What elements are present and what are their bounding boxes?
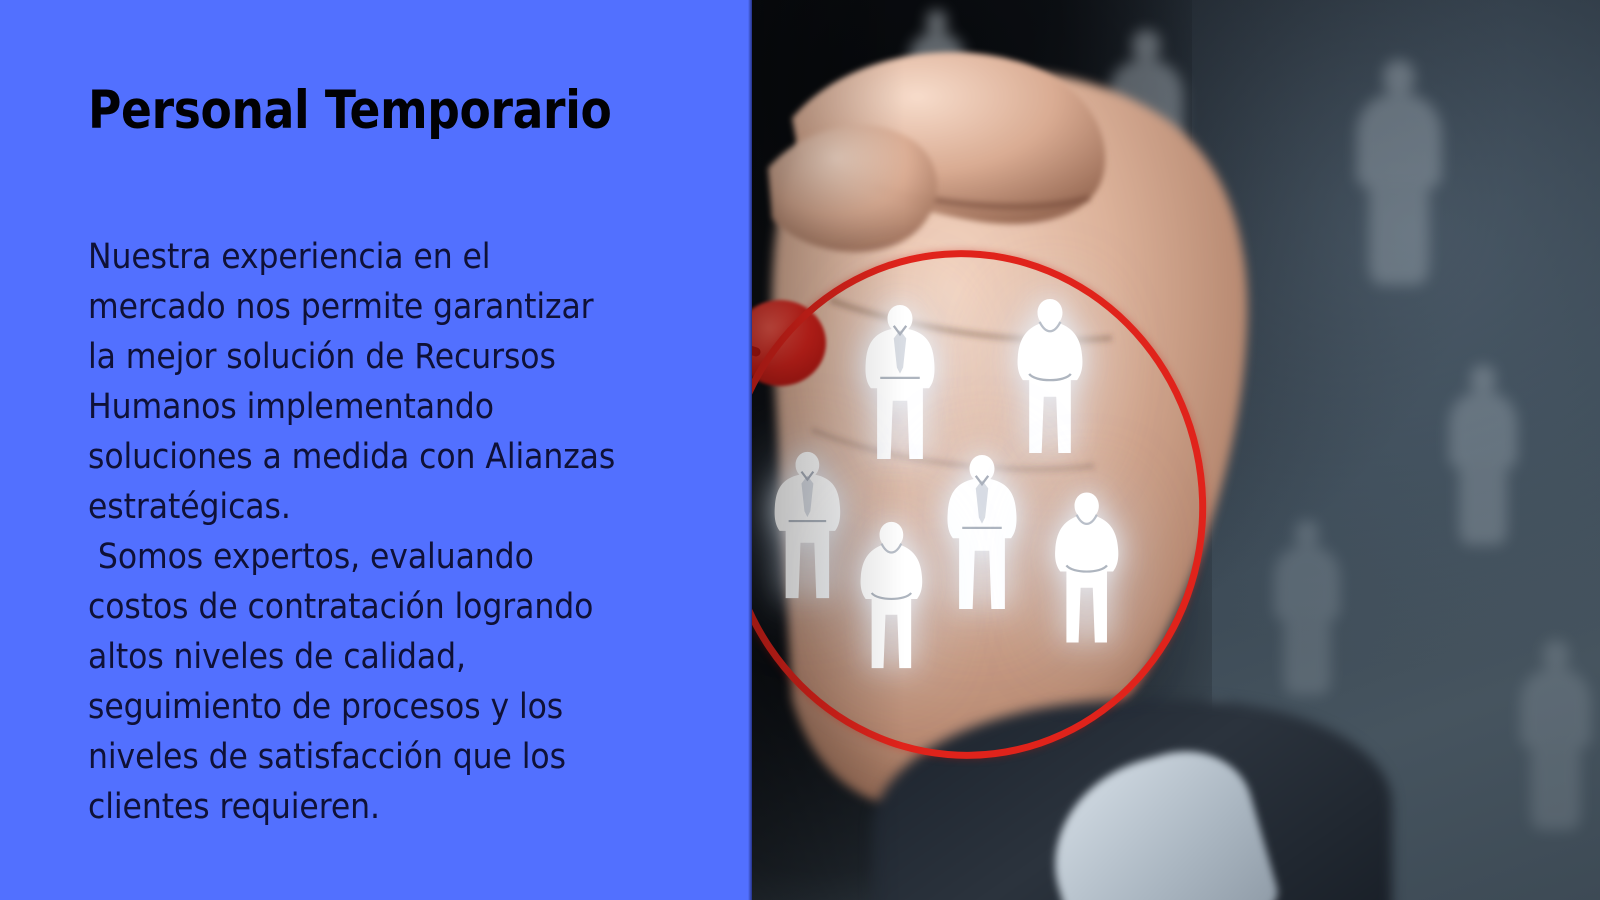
body-paragraph: Nuestra experiencia en el mercado nos pe…	[88, 232, 628, 832]
hero-photo	[752, 0, 1600, 900]
slide-root: Personal Temporario Nuestra experiencia …	[0, 0, 1600, 900]
text-panel: Personal Temporario Nuestra experiencia …	[0, 0, 752, 900]
hand-thumb	[768, 125, 937, 252]
page-title: Personal Temporario	[88, 82, 611, 139]
